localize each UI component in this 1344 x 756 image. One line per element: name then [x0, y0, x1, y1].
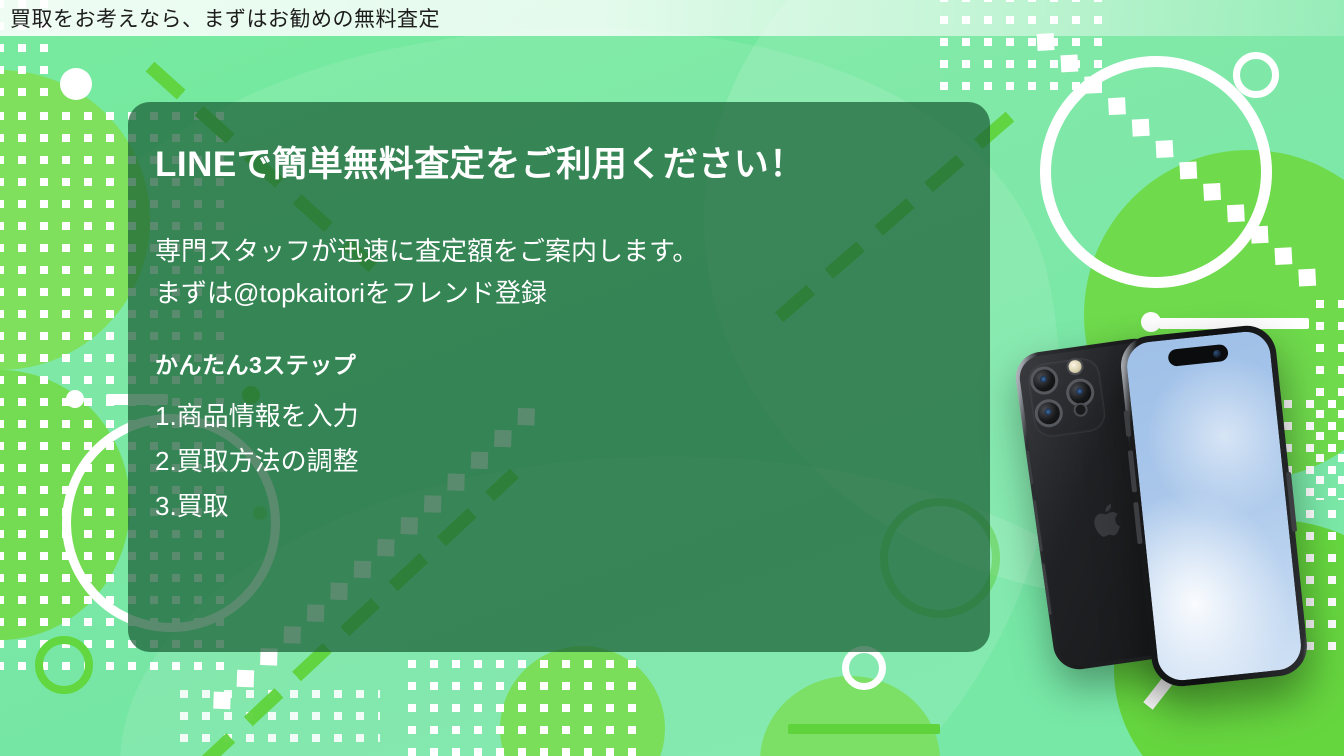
volume-button [1024, 450, 1034, 484]
page-title: LINEで簡単無料査定をご利用ください！ [155, 144, 955, 186]
dot-grid-pattern [408, 660, 638, 756]
phone-screen [1125, 329, 1304, 682]
green-blob [760, 676, 940, 756]
steps-heading: かんたん3ステップ [155, 346, 955, 380]
green-blob [0, 370, 130, 640]
circle-outline-icon [1233, 52, 1279, 98]
circle-outline-icon [35, 636, 93, 694]
list-item: 1.商品情報を入力 [155, 394, 955, 439]
camera-module [1026, 356, 1108, 439]
camera-lens-icon [1028, 365, 1060, 397]
camera-flash-icon [1065, 357, 1084, 376]
product-image-iphone [1010, 330, 1344, 756]
volume-button [1040, 563, 1052, 615]
decor-dot [66, 390, 84, 408]
header-title: 買取をお考えなら、まずはお勧めの無料査定 [10, 3, 440, 33]
lead-line-1: 専門スタッフが迅速に査定額をご案内します。 [155, 230, 955, 272]
steps-list: 1.商品情報を入力 2.買取方法の調整 3.買取 [155, 394, 955, 528]
header-bar: 買取をお考えなら、まずはお勧めの無料査定 [0, 0, 1344, 36]
panel-content: LINEで簡単無料査定をご利用ください！ 専門スタッフが迅速に査定額をご案内しま… [155, 102, 955, 652]
camera-lens-icon [1033, 397, 1065, 429]
decor-dot [1141, 312, 1161, 332]
circle-outline-icon [1040, 56, 1272, 288]
banner-canvas: LINEで簡単無料査定をご利用ください！ 専門スタッフが迅速に査定額をご案内しま… [0, 0, 1344, 756]
apple-logo-icon [1090, 498, 1130, 547]
dot-grid-pattern [180, 690, 380, 756]
lead-paragraph: 専門スタッフが迅速に査定額をご案内します。 まずは@topkaitoriをフレン… [155, 230, 955, 314]
decor-dot [60, 68, 92, 100]
front-camera-icon [1213, 349, 1222, 358]
green-blob [500, 646, 665, 756]
dynamic-island [1167, 344, 1228, 367]
list-item: 3.買取 [155, 484, 955, 529]
list-item: 2.買取方法の調整 [155, 439, 955, 484]
circle-outline-icon [842, 646, 886, 690]
decor-bar [788, 724, 940, 734]
lead-line-2: まずは@topkaitoriをフレンド登録 [155, 272, 955, 314]
volume-button [1031, 500, 1043, 552]
